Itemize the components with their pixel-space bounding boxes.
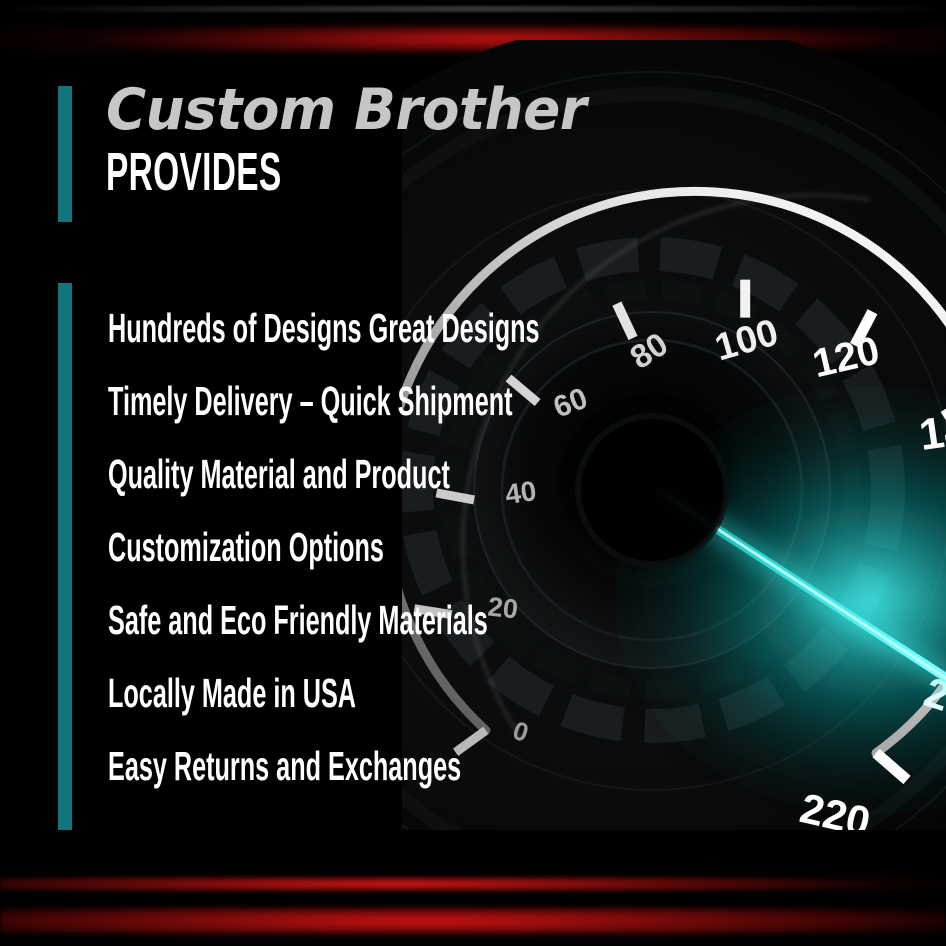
accent-bar-heading [58,86,72,222]
list-item: Easy Returns and Exchanges [108,746,440,787]
list-item: Quality Material and Product [108,454,440,495]
benefits-list: Hundreds of Designs Great Designs Timely… [108,308,648,819]
list-item: Timely Delivery – Quick Shipment [108,381,440,422]
list-item: Customization Options [108,527,440,568]
list-item: Locally Made in USA [108,673,440,714]
heading-block: Custom Brother PROVIDES [106,82,626,199]
page-title: Custom Brother [106,82,605,139]
list-item: Hundreds of Designs Great Designs [108,308,440,349]
poster-canvas: 0 20 40 60 80 100 120 140 200 220 [0,0,946,946]
page-subtitle: PROVIDES [106,145,428,199]
accent-bar-list [58,283,72,830]
copy-column: Custom Brother PROVIDES Hundreds of Desi… [0,0,640,946]
list-item: Safe and Eco Friendly Materials [108,600,440,641]
